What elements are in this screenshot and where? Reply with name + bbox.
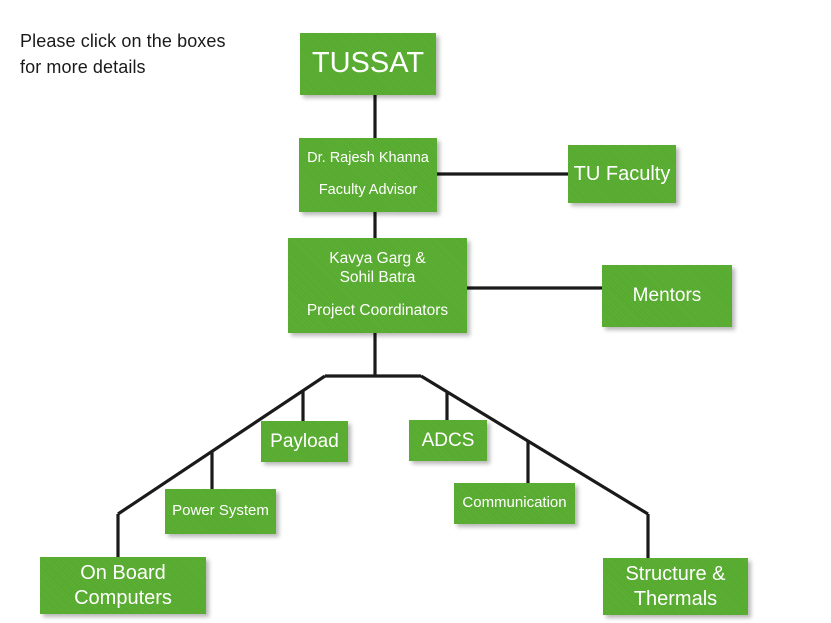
node-tu-faculty-label: TU Faculty (574, 162, 671, 186)
node-tussat-label: TUSSAT (312, 46, 424, 81)
node-power-system[interactable]: Power System (165, 489, 276, 534)
node-on-board-computers-line-2: Computers (74, 586, 172, 610)
node-on-board-computers[interactable]: On Board Computers (40, 557, 206, 614)
org-chart-canvas: Please click on the boxes for more detai… (0, 0, 831, 623)
node-adcs[interactable]: ADCS (409, 420, 487, 461)
node-communication[interactable]: Communication (454, 483, 575, 524)
node-mentors-label: Mentors (633, 284, 702, 307)
node-communication-label: Communication (462, 494, 566, 512)
node-tussat[interactable]: TUSSAT (300, 33, 436, 95)
node-faculty-advisor[interactable]: Dr. Rajesh Khanna Faculty Advisor (299, 138, 437, 212)
node-structure-thermals[interactable]: Structure & Thermals (603, 558, 748, 615)
node-project-coordinators-role: Project Coordinators (307, 302, 448, 321)
node-project-coordinators-name-2: Sohil Batra (340, 269, 416, 288)
instructions-line-1: Please click on the boxes (20, 31, 226, 51)
node-structure-thermals-line-1: Structure & (625, 562, 725, 586)
node-structure-thermals-line-2: Thermals (634, 587, 717, 611)
node-power-system-label: Power System (172, 502, 269, 520)
node-faculty-advisor-name: Dr. Rajesh Khanna (307, 150, 429, 168)
instructions-text: Please click on the boxes for more detai… (20, 28, 270, 80)
node-on-board-computers-line-1: On Board (80, 561, 166, 585)
node-tu-faculty[interactable]: TU Faculty (568, 145, 676, 203)
node-payload[interactable]: Payload (261, 421, 348, 462)
node-payload-label: Payload (270, 430, 339, 453)
instructions-line-2: for more details (20, 57, 146, 77)
node-project-coordinators-name-1: Kavya Garg & (329, 250, 426, 269)
node-adcs-label: ADCS (422, 429, 475, 452)
node-mentors[interactable]: Mentors (602, 265, 732, 327)
node-faculty-advisor-role: Faculty Advisor (319, 182, 417, 200)
node-project-coordinators[interactable]: Kavya Garg & Sohil Batra Project Coordin… (288, 238, 467, 333)
